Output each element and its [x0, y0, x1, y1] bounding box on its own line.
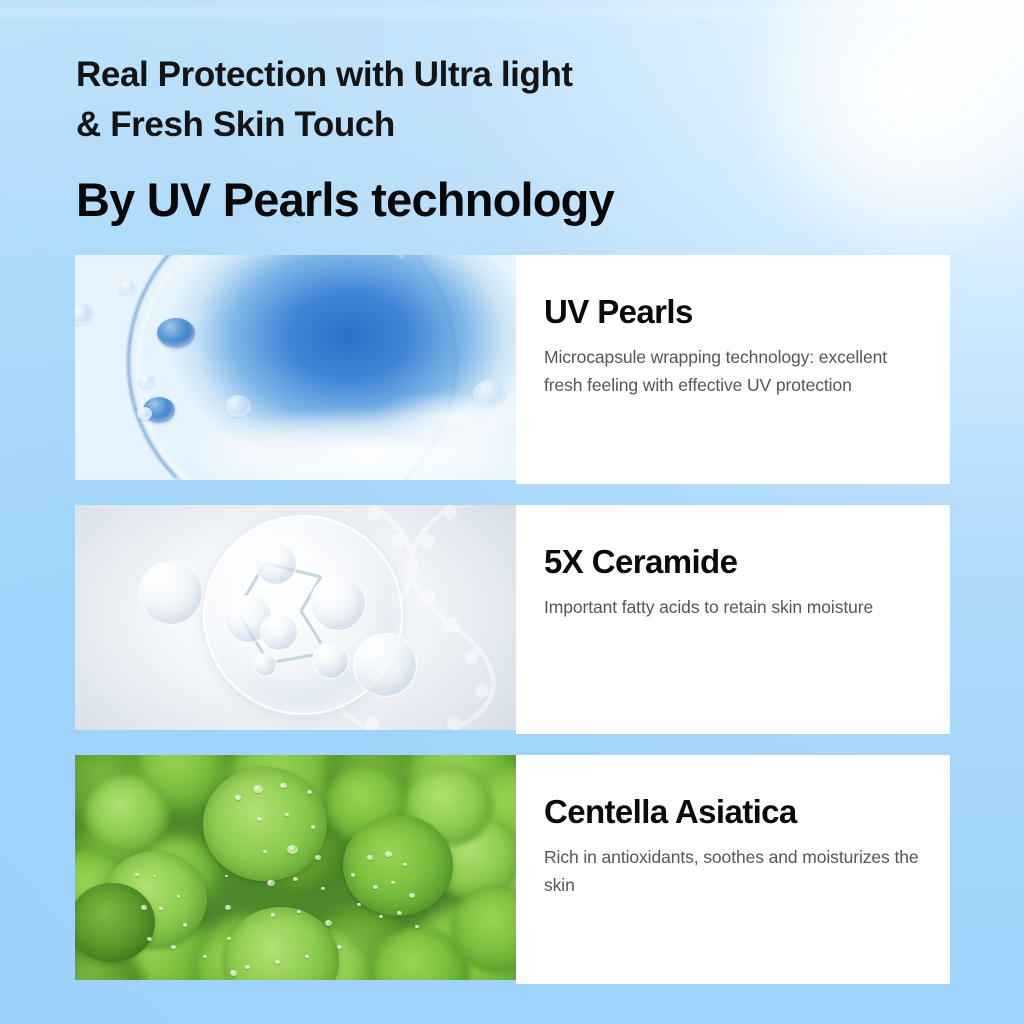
- water-droplet-icon: [351, 873, 355, 877]
- water-droplet-icon: [293, 877, 298, 881]
- water-droplet-icon: [311, 825, 315, 829]
- water-sphere-highlight: [75, 255, 516, 480]
- water-droplet-icon: [183, 923, 187, 927]
- water-droplet-icon: [138, 375, 154, 388]
- water-droplet-icon: [225, 395, 251, 417]
- molecule-atom-icon: [310, 575, 366, 631]
- molecule-atom-icon: [313, 643, 349, 679]
- card-description: Important fatty acids to retain skin moi…: [544, 593, 929, 621]
- heading-block: Real Protection with Ultra light & Fresh…: [76, 50, 836, 228]
- ceramide-image: [75, 505, 516, 730]
- uv-pearls-text: UV Pearls Microcapsule wrapping technolo…: [516, 255, 950, 484]
- water-droplet-icon: [391, 881, 395, 884]
- water-droplet-icon: [157, 318, 195, 348]
- water-droplet-icon: [263, 850, 267, 853]
- water-droplet-icon: [119, 281, 136, 295]
- water-droplet-icon: [147, 937, 152, 941]
- water-droplet-icon: [315, 855, 321, 860]
- centella-leaf-icon: [85, 775, 169, 852]
- card-description: Microcapsule wrapping technology: excell…: [544, 343, 929, 399]
- water-droplet-icon: [271, 913, 275, 917]
- water-droplet-icon: [253, 785, 263, 793]
- water-droplet-icon: [159, 907, 163, 910]
- feature-card-list: UV Pearls Microcapsule wrapping technolo…: [75, 255, 950, 980]
- water-droplet-icon: [225, 905, 231, 910]
- subheading-line-1: Real Protection with Ultra light: [76, 50, 836, 100]
- water-droplet-icon: [275, 960, 280, 964]
- water-droplet-icon: [385, 851, 392, 857]
- card-title: UV Pearls: [544, 293, 950, 331]
- water-droplet-icon: [297, 910, 301, 913]
- feature-card-5x-ceramide[interactable]: 5X Ceramide Important fatty acids to ret…: [75, 505, 950, 730]
- water-droplet-icon: [473, 380, 505, 407]
- feature-card-uv-pearls[interactable]: UV Pearls Microcapsule wrapping technolo…: [75, 255, 950, 480]
- water-droplet-icon: [357, 903, 361, 906]
- feature-card-centella-asiatica[interactable]: Centella Asiatica Rich in antioxidants, …: [75, 755, 950, 980]
- card-title: 5X Ceramide: [544, 543, 950, 581]
- water-droplet-icon: [235, 795, 241, 800]
- uv-pearls-image: [75, 255, 516, 480]
- centella-text: Centella Asiatica Rich in antioxidants, …: [516, 755, 950, 984]
- water-droplet-icon: [280, 783, 287, 788]
- satellite-bubble-icon: [139, 561, 203, 625]
- molecule-atom-icon: [255, 543, 297, 585]
- water-droplet-icon: [325, 920, 332, 926]
- molecule-atom-icon: [260, 613, 298, 651]
- satellite-bubble-icon: [353, 633, 417, 697]
- water-droplet-icon: [203, 955, 207, 958]
- water-droplet-icon: [141, 905, 147, 910]
- water-droplet-icon: [409, 893, 415, 898]
- molecule-atom-icon: [253, 653, 277, 677]
- water-droplet-icon: [367, 855, 373, 860]
- centella-leaf-icon: [203, 767, 327, 881]
- water-droplet-icon: [287, 845, 298, 854]
- subheading-line-2: & Fresh Skin Touch: [76, 100, 836, 150]
- water-droplet-icon: [230, 970, 237, 976]
- centella-image: [75, 755, 516, 980]
- ceramide-text: 5X Ceramide Important fatty acids to ret…: [516, 505, 950, 734]
- centella-leaf-bed: [75, 755, 516, 980]
- centella-leaf-icon: [343, 815, 453, 916]
- page-title: By UV Pearls technology: [76, 172, 836, 228]
- water-droplet-icon: [137, 407, 152, 420]
- water-droplet-icon: [373, 885, 378, 889]
- product-feature-page: Real Protection with Ultra light & Fresh…: [0, 0, 1024, 1024]
- water-droplet-icon: [225, 875, 228, 877]
- card-title: Centella Asiatica: [544, 793, 950, 831]
- card-description: Rich in antioxidants, soothes and moistu…: [544, 843, 929, 899]
